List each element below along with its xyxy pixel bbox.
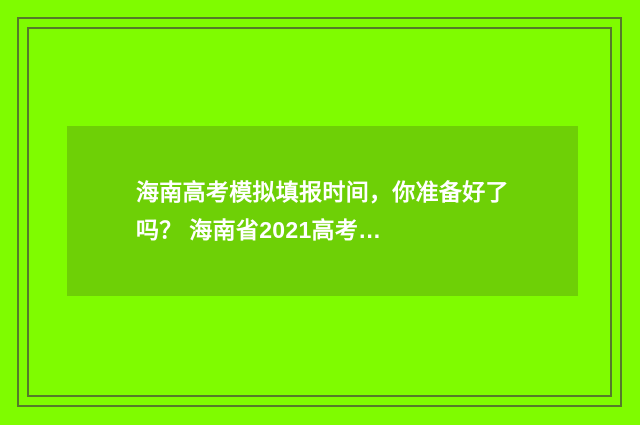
thumbnail-canvas: 海南高考模拟填报时间，你准备好了吗？ 海南省2021高考…	[0, 0, 640, 425]
headline-panel[interactable]: 海南高考模拟填报时间，你准备好了吗？ 海南省2021高考…	[67, 126, 578, 296]
headline-text: 海南高考模拟填报时间，你准备好了吗？ 海南省2021高考…	[67, 173, 578, 249]
